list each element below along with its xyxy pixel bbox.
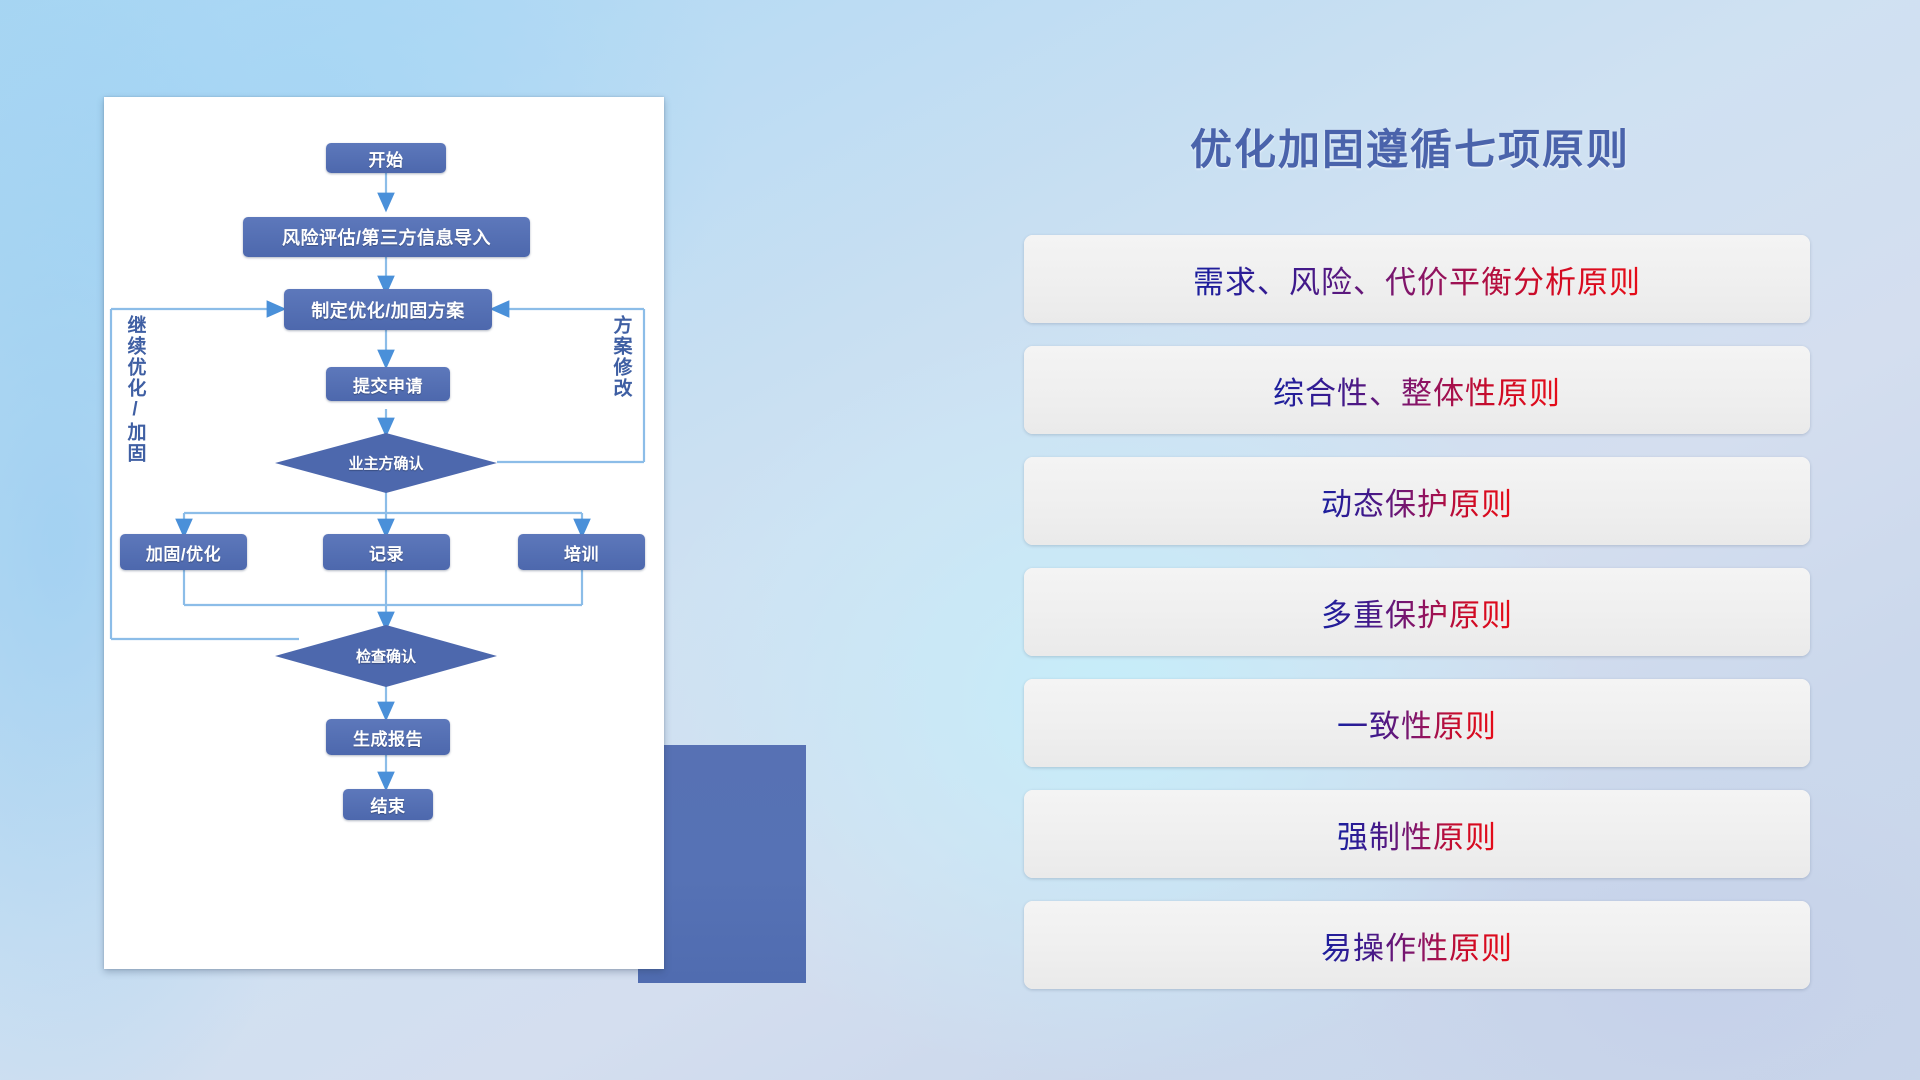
flow-node-label: 记录 <box>369 540 404 565</box>
flow-node-label: 加固/优化 <box>146 540 221 565</box>
principle-card[interactable]: 多重保护原则 <box>1024 568 1810 656</box>
panel-title: 优化加固遵循七项原则 <box>1150 116 1670 177</box>
flow-node-training[interactable]: 培训 <box>518 534 645 570</box>
principle-card[interactable]: 一致性原则 <box>1024 679 1810 767</box>
flow-node-label: 提交申请 <box>353 372 423 397</box>
principle-card[interactable]: 需求、风险、代价平衡分析原则 <box>1024 235 1810 323</box>
principle-label: 易操作性原则 <box>1321 923 1513 968</box>
principle-label: 多重保护原则 <box>1321 590 1513 635</box>
flow-node-generate-report[interactable]: 生成报告 <box>326 719 450 755</box>
principle-card[interactable]: 易操作性原则 <box>1024 901 1810 989</box>
flowchart-card: 开始 风险评估/第三方信息导入 制定优化/加固方案 提交申请 业主方确认 加固/… <box>104 97 664 969</box>
principle-label: 一致性原则 <box>1337 701 1497 746</box>
flow-node-end[interactable]: 结束 <box>343 789 433 820</box>
principle-label: 需求、风险、代价平衡分析原则 <box>1193 257 1641 302</box>
flow-node-record[interactable]: 记录 <box>323 534 450 570</box>
principle-card[interactable]: 动态保护原则 <box>1024 457 1810 545</box>
principle-label: 综合性、整体性原则 <box>1273 368 1561 413</box>
flow-node-label: 检查确认 <box>356 646 416 667</box>
principle-card[interactable]: 综合性、整体性原则 <box>1024 346 1810 434</box>
flow-node-reinforce[interactable]: 加固/优化 <box>120 534 247 570</box>
flow-node-label: 风险评估/第三方信息导入 <box>282 224 491 250</box>
flow-node-label: 制定优化/加固方案 <box>311 297 465 323</box>
flow-node-label: 生成报告 <box>353 725 423 750</box>
principles-list: 需求、风险、代价平衡分析原则 综合性、整体性原则 动态保护原则 多重保护原则 一… <box>1024 235 1810 1012</box>
principle-card[interactable]: 强制性原则 <box>1024 790 1810 878</box>
flow-node-label: 开始 <box>369 146 404 171</box>
flow-node-start[interactable]: 开始 <box>326 143 446 173</box>
flow-node-label: 结束 <box>371 792 406 817</box>
flow-node-risk-assessment[interactable]: 风险评估/第三方信息导入 <box>243 217 530 257</box>
flow-node-label: 业主方确认 <box>348 453 423 474</box>
principle-label: 动态保护原则 <box>1321 479 1513 524</box>
flow-node-plan[interactable]: 制定优化/加固方案 <box>284 289 492 330</box>
edge-label-continue-optimize: 继续优化/加固 <box>124 315 145 464</box>
flow-node-submit-application[interactable]: 提交申请 <box>326 367 450 401</box>
flow-node-label: 培训 <box>564 540 599 565</box>
edge-label-plan-revision: 方案修改 <box>610 315 631 399</box>
principle-label: 强制性原则 <box>1337 812 1497 857</box>
